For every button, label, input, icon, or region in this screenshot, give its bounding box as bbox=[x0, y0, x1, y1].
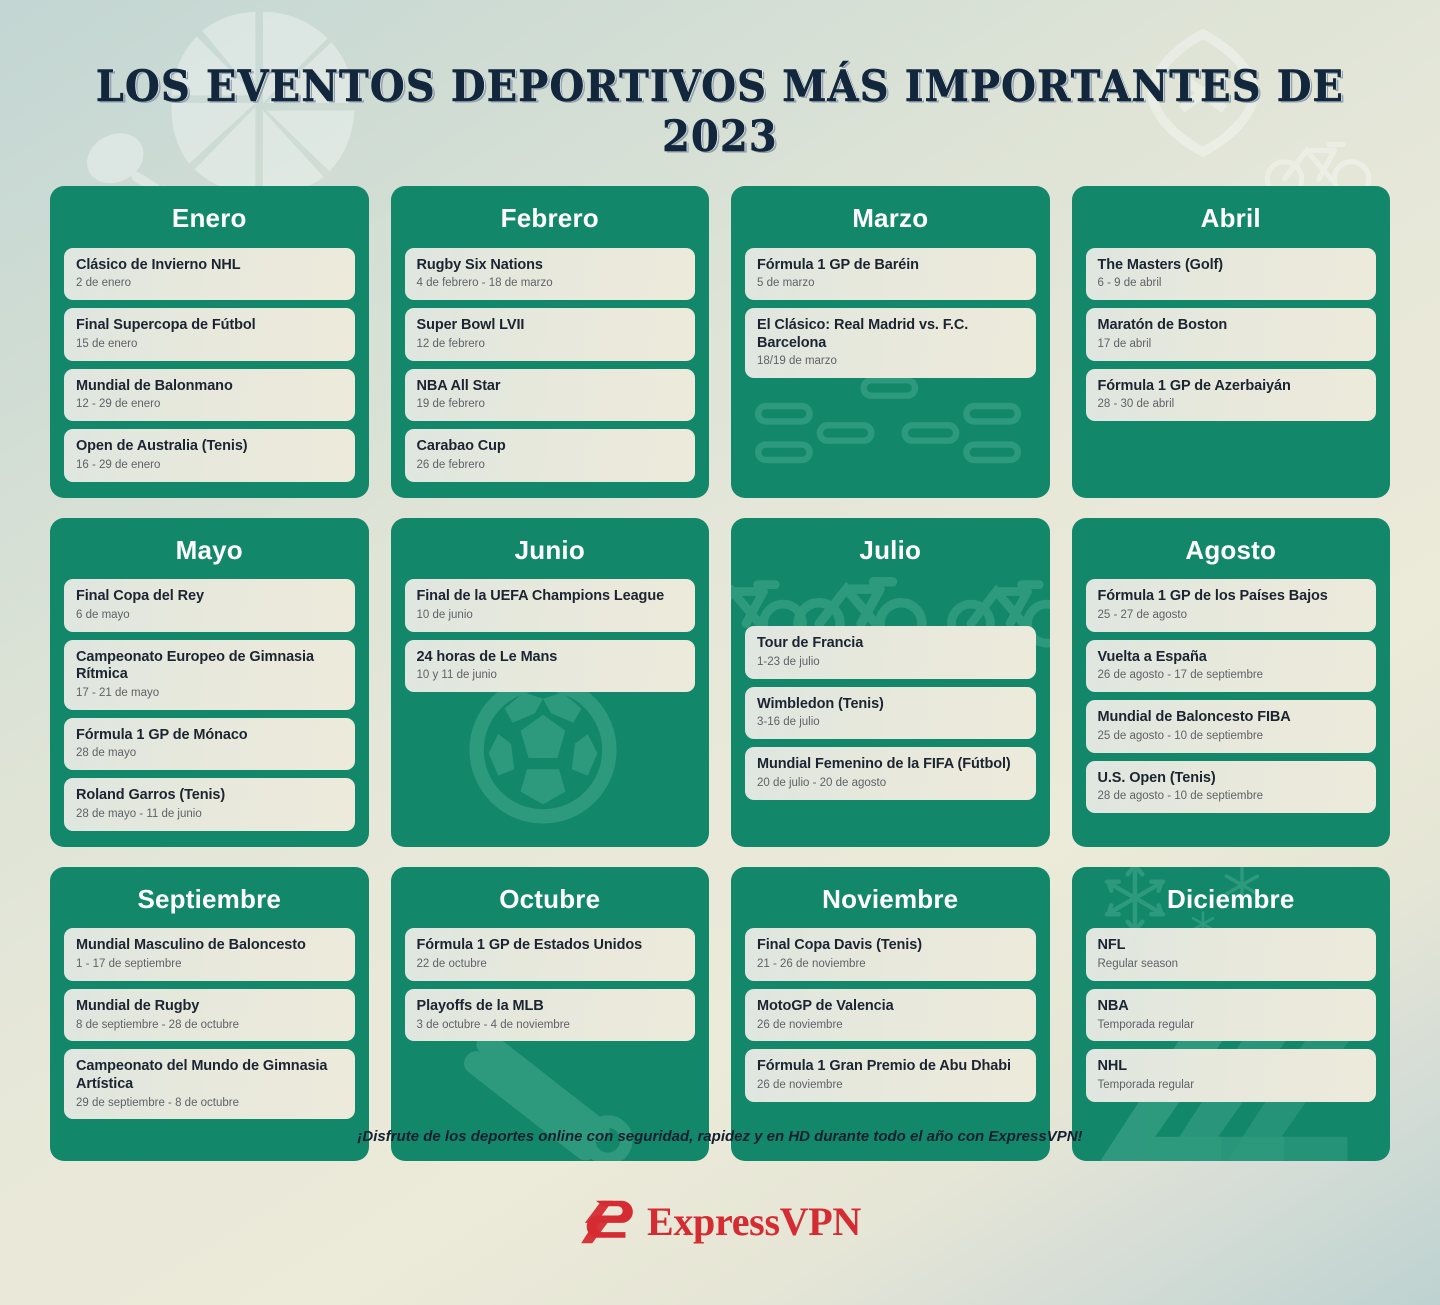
event-card[interactable]: Final de la UEFA Champions League 10 de … bbox=[405, 579, 696, 631]
event-list: Clásico de Invierno NHL 2 de enero Final… bbox=[64, 248, 355, 482]
month-card-noviembre: Noviembre Final Copa Davis (Tenis) 21 - … bbox=[731, 867, 1050, 1161]
event-name: Mundial Masculino de Baloncesto bbox=[76, 937, 344, 955]
event-date: 26 de febrero bbox=[417, 459, 685, 473]
expressvpn-wordmark: ExpressVPN bbox=[647, 1202, 861, 1242]
event-card[interactable]: Maratón de Boston 17 de abril bbox=[1086, 308, 1377, 360]
month-card-diciembre: Diciembre NFL Regular season NBA Tempora… bbox=[1072, 867, 1391, 1161]
event-card[interactable]: NFL Regular season bbox=[1086, 928, 1377, 980]
event-date: Temporada regular bbox=[1098, 1079, 1366, 1093]
event-date: 17 de abril bbox=[1098, 338, 1366, 352]
event-list: The Masters (Golf) 6 - 9 de abril Marató… bbox=[1086, 248, 1377, 421]
page-title: Los eventos deportivos más importantes d… bbox=[50, 62, 1389, 162]
event-name: Fórmula 1 GP de Mónaco bbox=[76, 727, 344, 745]
event-card[interactable]: Fórmula 1 GP de Estados Unidos 22 de oct… bbox=[405, 928, 696, 980]
event-date: 19 de febrero bbox=[417, 398, 685, 412]
month-card-abril: Abril The Masters (Golf) 6 - 9 de abril … bbox=[1072, 186, 1391, 498]
event-card[interactable]: Tour de Francia 1-23 de julio bbox=[745, 626, 1036, 678]
event-name: Fórmula 1 Gran Premio de Abu Dhabi bbox=[757, 1058, 1025, 1076]
event-card[interactable]: NBA All Star 19 de febrero bbox=[405, 369, 696, 421]
event-card[interactable]: Wimbledon (Tenis) 3-16 de julio bbox=[745, 687, 1036, 739]
event-name: Playoffs de la MLB bbox=[417, 998, 685, 1016]
month-title: Septiembre bbox=[64, 885, 355, 914]
event-date: 10 de junio bbox=[417, 609, 685, 623]
event-name: U.S. Open (Tenis) bbox=[1098, 770, 1366, 788]
event-name: NBA All Star bbox=[417, 378, 685, 396]
event-name: The Masters (Golf) bbox=[1098, 257, 1366, 275]
event-card[interactable]: Mundial de Rugby 8 de septiembre - 28 de… bbox=[64, 989, 355, 1041]
event-name: Clásico de Invierno NHL bbox=[76, 257, 344, 275]
event-name: Final Copa del Rey bbox=[76, 588, 344, 606]
footer-note: ¡Disfrute de los deportes online con seg… bbox=[0, 1128, 1440, 1145]
event-list: Fórmula 1 GP de Estados Unidos 22 de oct… bbox=[405, 928, 696, 1041]
event-card[interactable]: Campeonato del Mundo de Gimnasia Artísti… bbox=[64, 1049, 355, 1119]
month-title: Noviembre bbox=[745, 885, 1036, 914]
month-card-mayo: Mayo Final Copa del Rey 6 de mayo Campeo… bbox=[50, 518, 369, 847]
event-date: 1 - 17 de septiembre bbox=[76, 958, 344, 972]
month-title: Julio bbox=[745, 536, 1036, 565]
event-date: Temporada regular bbox=[1098, 1019, 1366, 1033]
event-card[interactable]: Fórmula 1 GP de Azerbaiyán 28 - 30 de ab… bbox=[1086, 369, 1377, 421]
event-card[interactable]: Mundial Femenino de la FIFA (Fútbol) 20 … bbox=[745, 747, 1036, 799]
month-card-junio: Junio Final de la UEFA Champions League … bbox=[391, 518, 710, 847]
month-card-febrero: Febrero Rugby Six Nations 4 de febrero -… bbox=[391, 186, 710, 498]
event-name: Super Bowl LVII bbox=[417, 317, 685, 335]
event-date: 8 de septiembre - 28 de octubre bbox=[76, 1019, 344, 1033]
event-card[interactable]: Final Supercopa de Fútbol 15 de enero bbox=[64, 308, 355, 360]
event-name: El Clásico: Real Madrid vs. F.C. Barcelo… bbox=[757, 317, 1025, 352]
event-name: Fórmula 1 GP de los Países Bajos bbox=[1098, 588, 1366, 606]
event-name: Mundial de Balonmano bbox=[76, 378, 344, 396]
event-list: Rugby Six Nations 4 de febrero - 18 de m… bbox=[405, 248, 696, 482]
event-date: 5 de marzo bbox=[757, 277, 1025, 291]
month-title: Febrero bbox=[405, 204, 696, 233]
month-title: Diciembre bbox=[1086, 885, 1377, 914]
event-card[interactable]: Roland Garros (Tenis) 28 de mayo - 11 de… bbox=[64, 778, 355, 830]
event-card[interactable]: NHL Temporada regular bbox=[1086, 1049, 1377, 1101]
event-name: NHL bbox=[1098, 1058, 1366, 1076]
soccer-ball-icon bbox=[463, 670, 623, 830]
event-card[interactable]: Fórmula 1 GP de Mónaco 28 de mayo bbox=[64, 718, 355, 770]
event-name: Mundial de Rugby bbox=[76, 998, 344, 1016]
event-name: Roland Garros (Tenis) bbox=[76, 787, 344, 805]
event-name: Mundial Femenino de la FIFA (Fútbol) bbox=[757, 756, 1025, 774]
event-name: Carabao Cup bbox=[417, 438, 685, 456]
event-date: 15 de enero bbox=[76, 338, 344, 352]
event-list: Fórmula 1 GP de los Países Bajos 25 - 27… bbox=[1086, 579, 1377, 813]
event-date: 25 de agosto - 10 de septiembre bbox=[1098, 730, 1366, 744]
event-name: NFL bbox=[1098, 937, 1366, 955]
event-card[interactable]: Mundial de Baloncesto FIBA 25 de agosto … bbox=[1086, 700, 1377, 752]
event-date: 28 de agosto - 10 de septiembre bbox=[1098, 790, 1366, 804]
event-card[interactable]: Mundial Masculino de Baloncesto 1 - 17 d… bbox=[64, 928, 355, 980]
event-card[interactable]: NBA Temporada regular bbox=[1086, 989, 1377, 1041]
month-card-octubre: Octubre Fórmula 1 GP de Estados Unidos 2… bbox=[391, 867, 710, 1161]
event-date: 29 de septiembre - 8 de octubre bbox=[76, 1097, 344, 1111]
event-date: 16 - 29 de enero bbox=[76, 459, 344, 473]
event-card[interactable]: Fórmula 1 Gran Premio de Abu Dhabi 26 de… bbox=[745, 1049, 1036, 1101]
event-card[interactable]: MotoGP de Valencia 26 de noviembre bbox=[745, 989, 1036, 1041]
event-date: 21 - 26 de noviembre bbox=[757, 958, 1025, 972]
event-card[interactable]: Carabao Cup 26 de febrero bbox=[405, 429, 696, 481]
event-date: 10 y 11 de junio bbox=[417, 669, 685, 683]
event-card[interactable]: Open de Australia (Tenis) 16 - 29 de ene… bbox=[64, 429, 355, 481]
event-list: Final de la UEFA Champions League 10 de … bbox=[405, 579, 696, 692]
month-card-agosto: Agosto Fórmula 1 GP de los Países Bajos … bbox=[1072, 518, 1391, 847]
event-list: Mundial Masculino de Baloncesto 1 - 17 d… bbox=[64, 928, 355, 1119]
event-date: 22 de octubre bbox=[417, 958, 685, 972]
event-card[interactable]: Mundial de Balonmano 12 - 29 de enero bbox=[64, 369, 355, 421]
event-date: 28 - 30 de abril bbox=[1098, 398, 1366, 412]
event-name: Fórmula 1 GP de Baréin bbox=[757, 257, 1025, 275]
event-name: Open de Australia (Tenis) bbox=[76, 438, 344, 456]
event-date: 25 - 27 de agosto bbox=[1098, 609, 1366, 623]
event-card[interactable]: Rugby Six Nations 4 de febrero - 18 de m… bbox=[405, 248, 696, 300]
event-card[interactable]: Final Copa del Rey 6 de mayo bbox=[64, 579, 355, 631]
event-date: 26 de agosto - 17 de septiembre bbox=[1098, 669, 1366, 683]
event-card[interactable]: Playoffs de la MLB 3 de octubre - 4 de n… bbox=[405, 989, 696, 1041]
event-card[interactable]: 24 horas de Le Mans 10 y 11 de junio bbox=[405, 640, 696, 692]
event-date: 6 de mayo bbox=[76, 609, 344, 623]
event-date: 12 de febrero bbox=[417, 338, 685, 352]
month-title: Abril bbox=[1086, 204, 1377, 233]
event-date: 17 - 21 de mayo bbox=[76, 687, 344, 701]
event-card[interactable]: Fórmula 1 GP de Baréin 5 de marzo bbox=[745, 248, 1036, 300]
expressvpn-logo[interactable]: ExpressVPN bbox=[0, 1198, 1440, 1246]
month-title: Enero bbox=[64, 204, 355, 233]
expressvpn-logo-icon bbox=[579, 1198, 635, 1246]
month-card-julio: Julio Tour de Francia 1-23 de julio Wimb… bbox=[731, 518, 1050, 847]
event-card[interactable]: The Masters (Golf) 6 - 9 de abril bbox=[1086, 248, 1377, 300]
event-list: Fórmula 1 GP de Baréin 5 de marzo El Clá… bbox=[745, 248, 1036, 379]
event-name: Campeonato Europeo de Gimnasia Rítmica bbox=[76, 649, 344, 684]
event-date: 26 de noviembre bbox=[757, 1019, 1025, 1033]
event-name: Fórmula 1 GP de Estados Unidos bbox=[417, 937, 685, 955]
month-title: Octubre bbox=[405, 885, 696, 914]
month-title: Junio bbox=[405, 536, 696, 565]
event-card[interactable]: U.S. Open (Tenis) 28 de agosto - 10 de s… bbox=[1086, 761, 1377, 813]
event-card[interactable]: Campeonato Europeo de Gimnasia Rítmica 1… bbox=[64, 640, 355, 710]
event-name: Wimbledon (Tenis) bbox=[757, 696, 1025, 714]
event-name: Final de la UEFA Champions League bbox=[417, 588, 685, 606]
month-card-marzo: Marzo Fórmula 1 GP de Baréin 5 de marzo … bbox=[731, 186, 1050, 498]
event-name: Campeonato del Mundo de Gimnasia Artísti… bbox=[76, 1058, 344, 1093]
event-name: NBA bbox=[1098, 998, 1366, 1016]
event-date: 4 de febrero - 18 de marzo bbox=[417, 277, 685, 291]
event-date: 28 de mayo - 11 de junio bbox=[76, 808, 344, 822]
event-card[interactable]: Fórmula 1 GP de los Países Bajos 25 - 27… bbox=[1086, 579, 1377, 631]
month-title: Mayo bbox=[64, 536, 355, 565]
event-date: 6 - 9 de abril bbox=[1098, 277, 1366, 291]
event-list: Final Copa Davis (Tenis) 21 - 26 de novi… bbox=[745, 928, 1036, 1101]
event-date: 12 - 29 de enero bbox=[76, 398, 344, 412]
month-title: Marzo bbox=[745, 204, 1036, 233]
month-title: Agosto bbox=[1086, 536, 1377, 565]
event-name: Tour de Francia bbox=[757, 635, 1025, 653]
event-date: 28 de mayo bbox=[76, 747, 344, 761]
month-grid: Enero Clásico de Invierno NHL 2 de enero… bbox=[50, 186, 1390, 1161]
event-date: 26 de noviembre bbox=[757, 1079, 1025, 1093]
event-name: Rugby Six Nations bbox=[417, 257, 685, 275]
event-date: 3-16 de julio bbox=[757, 716, 1025, 730]
event-name: Final Copa Davis (Tenis) bbox=[757, 937, 1025, 955]
event-name: Vuelta a España bbox=[1098, 649, 1366, 667]
month-card-enero: Enero Clásico de Invierno NHL 2 de enero… bbox=[50, 186, 369, 498]
event-card[interactable]: Vuelta a España 26 de agosto - 17 de sep… bbox=[1086, 640, 1377, 692]
event-card[interactable]: Super Bowl LVII 12 de febrero bbox=[405, 308, 696, 360]
event-name: Mundial de Baloncesto FIBA bbox=[1098, 709, 1366, 727]
event-date: 1-23 de julio bbox=[757, 656, 1025, 670]
event-name: Maratón de Boston bbox=[1098, 317, 1366, 335]
month-card-septiembre: Septiembre Mundial Masculino de Balonces… bbox=[50, 867, 369, 1161]
event-name: 24 horas de Le Mans bbox=[417, 649, 685, 667]
event-name: MotoGP de Valencia bbox=[757, 998, 1025, 1016]
event-name: Final Supercopa de Fútbol bbox=[76, 317, 344, 335]
event-card[interactable]: Clásico de Invierno NHL 2 de enero bbox=[64, 248, 355, 300]
event-list: Tour de Francia 1-23 de julio Wimbledon … bbox=[745, 626, 1036, 799]
event-list: Final Copa del Rey 6 de mayo Campeonato … bbox=[64, 579, 355, 831]
event-card[interactable]: Final Copa Davis (Tenis) 21 - 26 de novi… bbox=[745, 928, 1036, 980]
event-list: NFL Regular season NBA Temporada regular… bbox=[1086, 928, 1377, 1101]
page-title-container: Los eventos deportivos más importantes d… bbox=[0, 62, 1440, 162]
event-date: 20 de julio - 20 de agosto bbox=[757, 777, 1025, 791]
event-card[interactable]: El Clásico: Real Madrid vs. F.C. Barcelo… bbox=[745, 308, 1036, 378]
event-name: Fórmula 1 GP de Azerbaiyán bbox=[1098, 378, 1366, 396]
event-date: 3 de octubre - 4 de noviembre bbox=[417, 1019, 685, 1033]
event-date: Regular season bbox=[1098, 958, 1366, 972]
event-date: 2 de enero bbox=[76, 277, 344, 291]
event-date: 18/19 de marzo bbox=[757, 355, 1025, 369]
